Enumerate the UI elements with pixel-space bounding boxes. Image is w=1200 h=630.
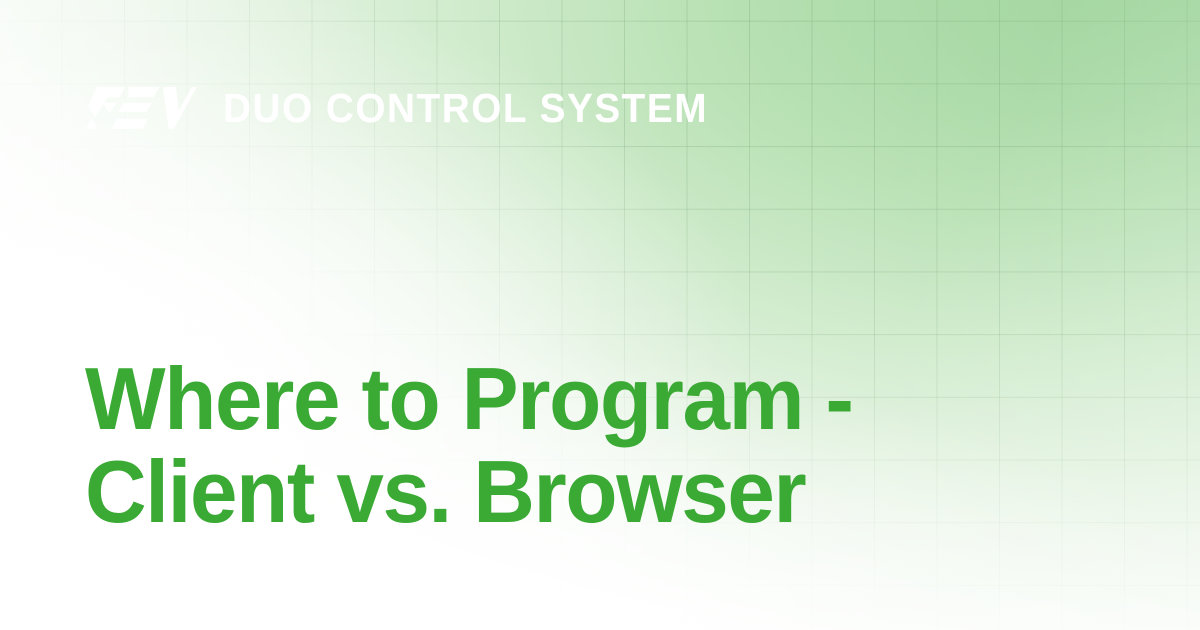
headline-line-1: Where to Program - <box>85 352 958 445</box>
headline-block: Where to Program - Client vs. Browser <box>85 352 985 538</box>
rev-logo-icon <box>85 87 197 129</box>
headline-line-2: Client vs. Browser <box>85 445 958 538</box>
brand-header: DUO CONTROL SYSTEM <box>85 85 736 131</box>
product-name-label: DUO CONTROL SYSTEM <box>223 87 708 129</box>
social-banner: DUO CONTROL SYSTEM Where to Program - Cl… <box>0 0 1200 630</box>
